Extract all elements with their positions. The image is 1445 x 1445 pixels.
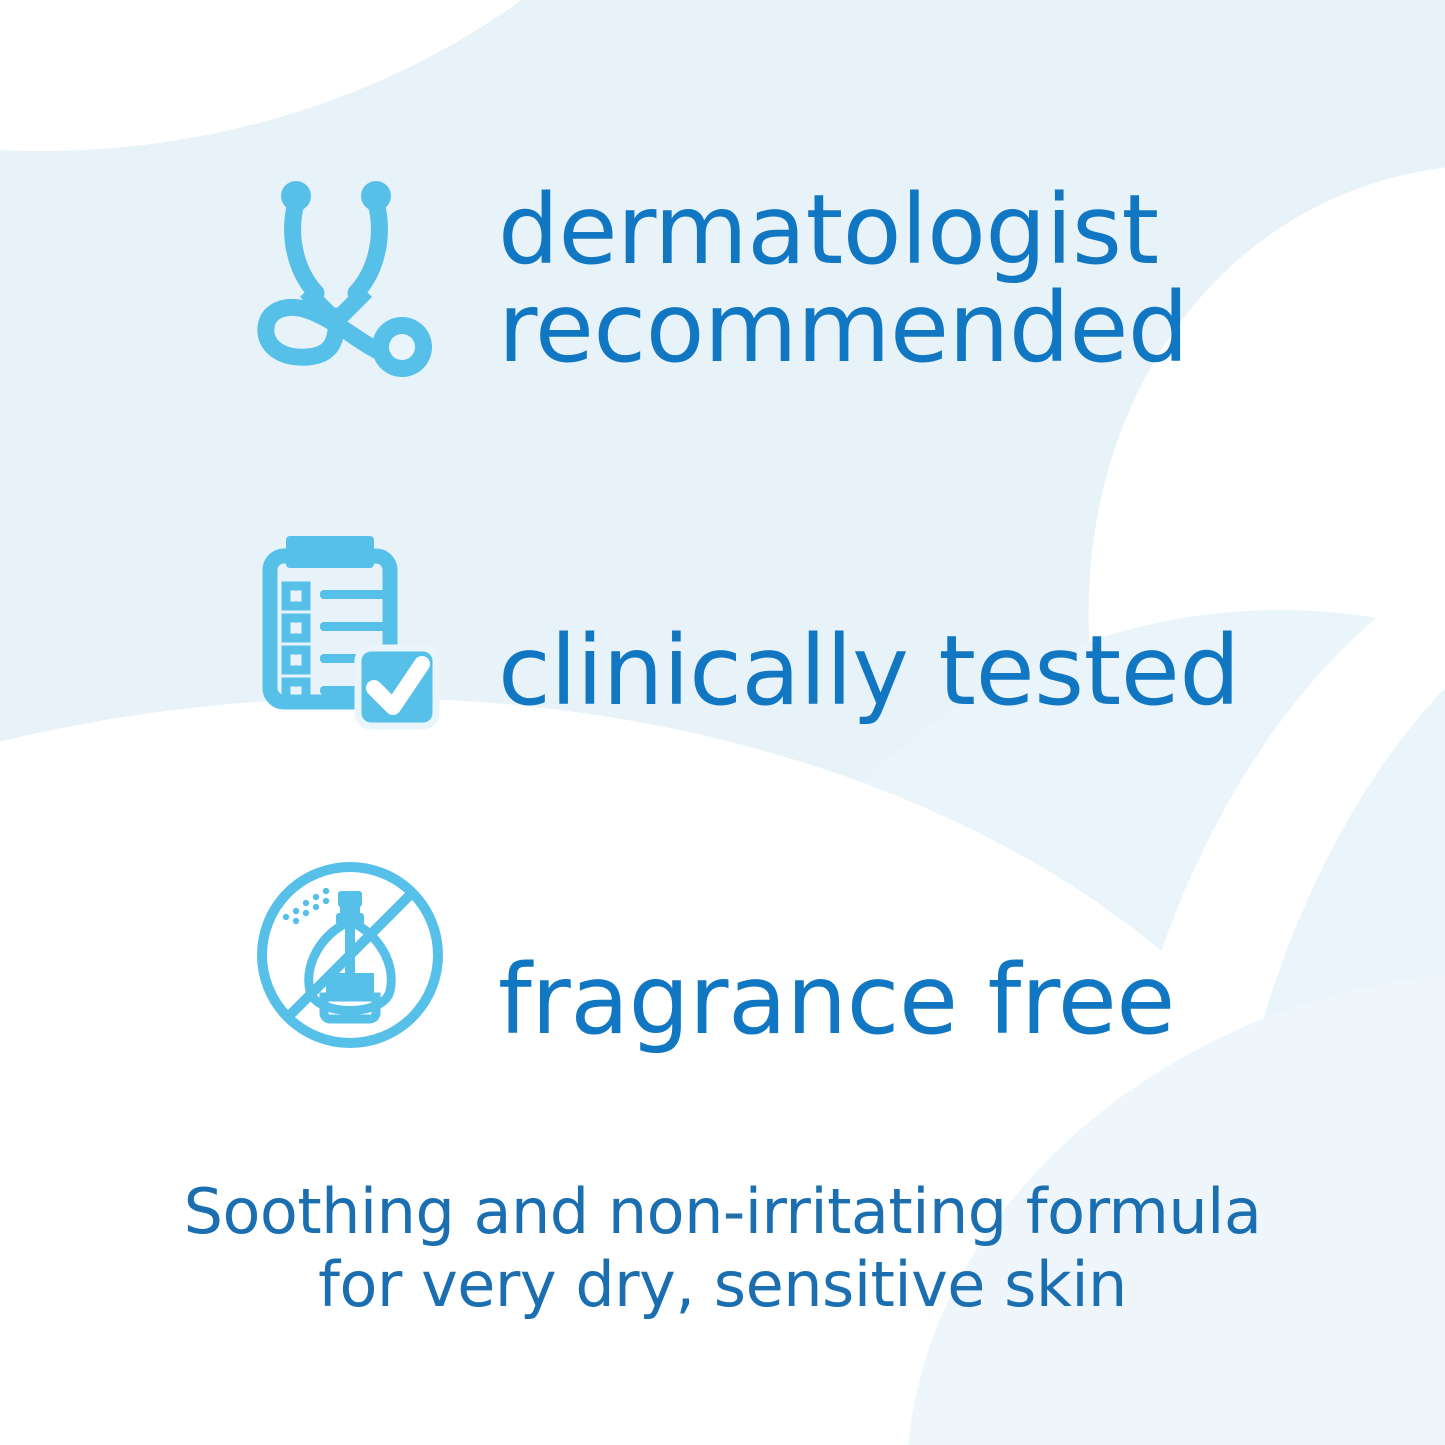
feature-label-clinically-tested: clinically tested: [498, 623, 1240, 721]
stethoscope-icon: [250, 175, 450, 390]
feature-label-dermatologist-recommended: dermatologist recommended: [498, 182, 1188, 378]
feature-row-clinically-tested: clinically tested: [250, 520, 1240, 735]
product-feature-panel: dermatologist recommended: [0, 0, 1445, 1445]
feature-list: dermatologist recommended: [0, 0, 1445, 1445]
feature-label-fragrance-free: fragrance free: [498, 952, 1175, 1050]
no-fragrance-icon: [250, 855, 450, 1055]
clipboard-checklist-icon: [250, 520, 450, 735]
feature-row-dermatologist-recommended: dermatologist recommended: [250, 175, 1188, 390]
footnote-text: Soothing and non-irritating formula for …: [0, 1175, 1445, 1321]
feature-row-fragrance-free: fragrance free: [250, 855, 1175, 1055]
